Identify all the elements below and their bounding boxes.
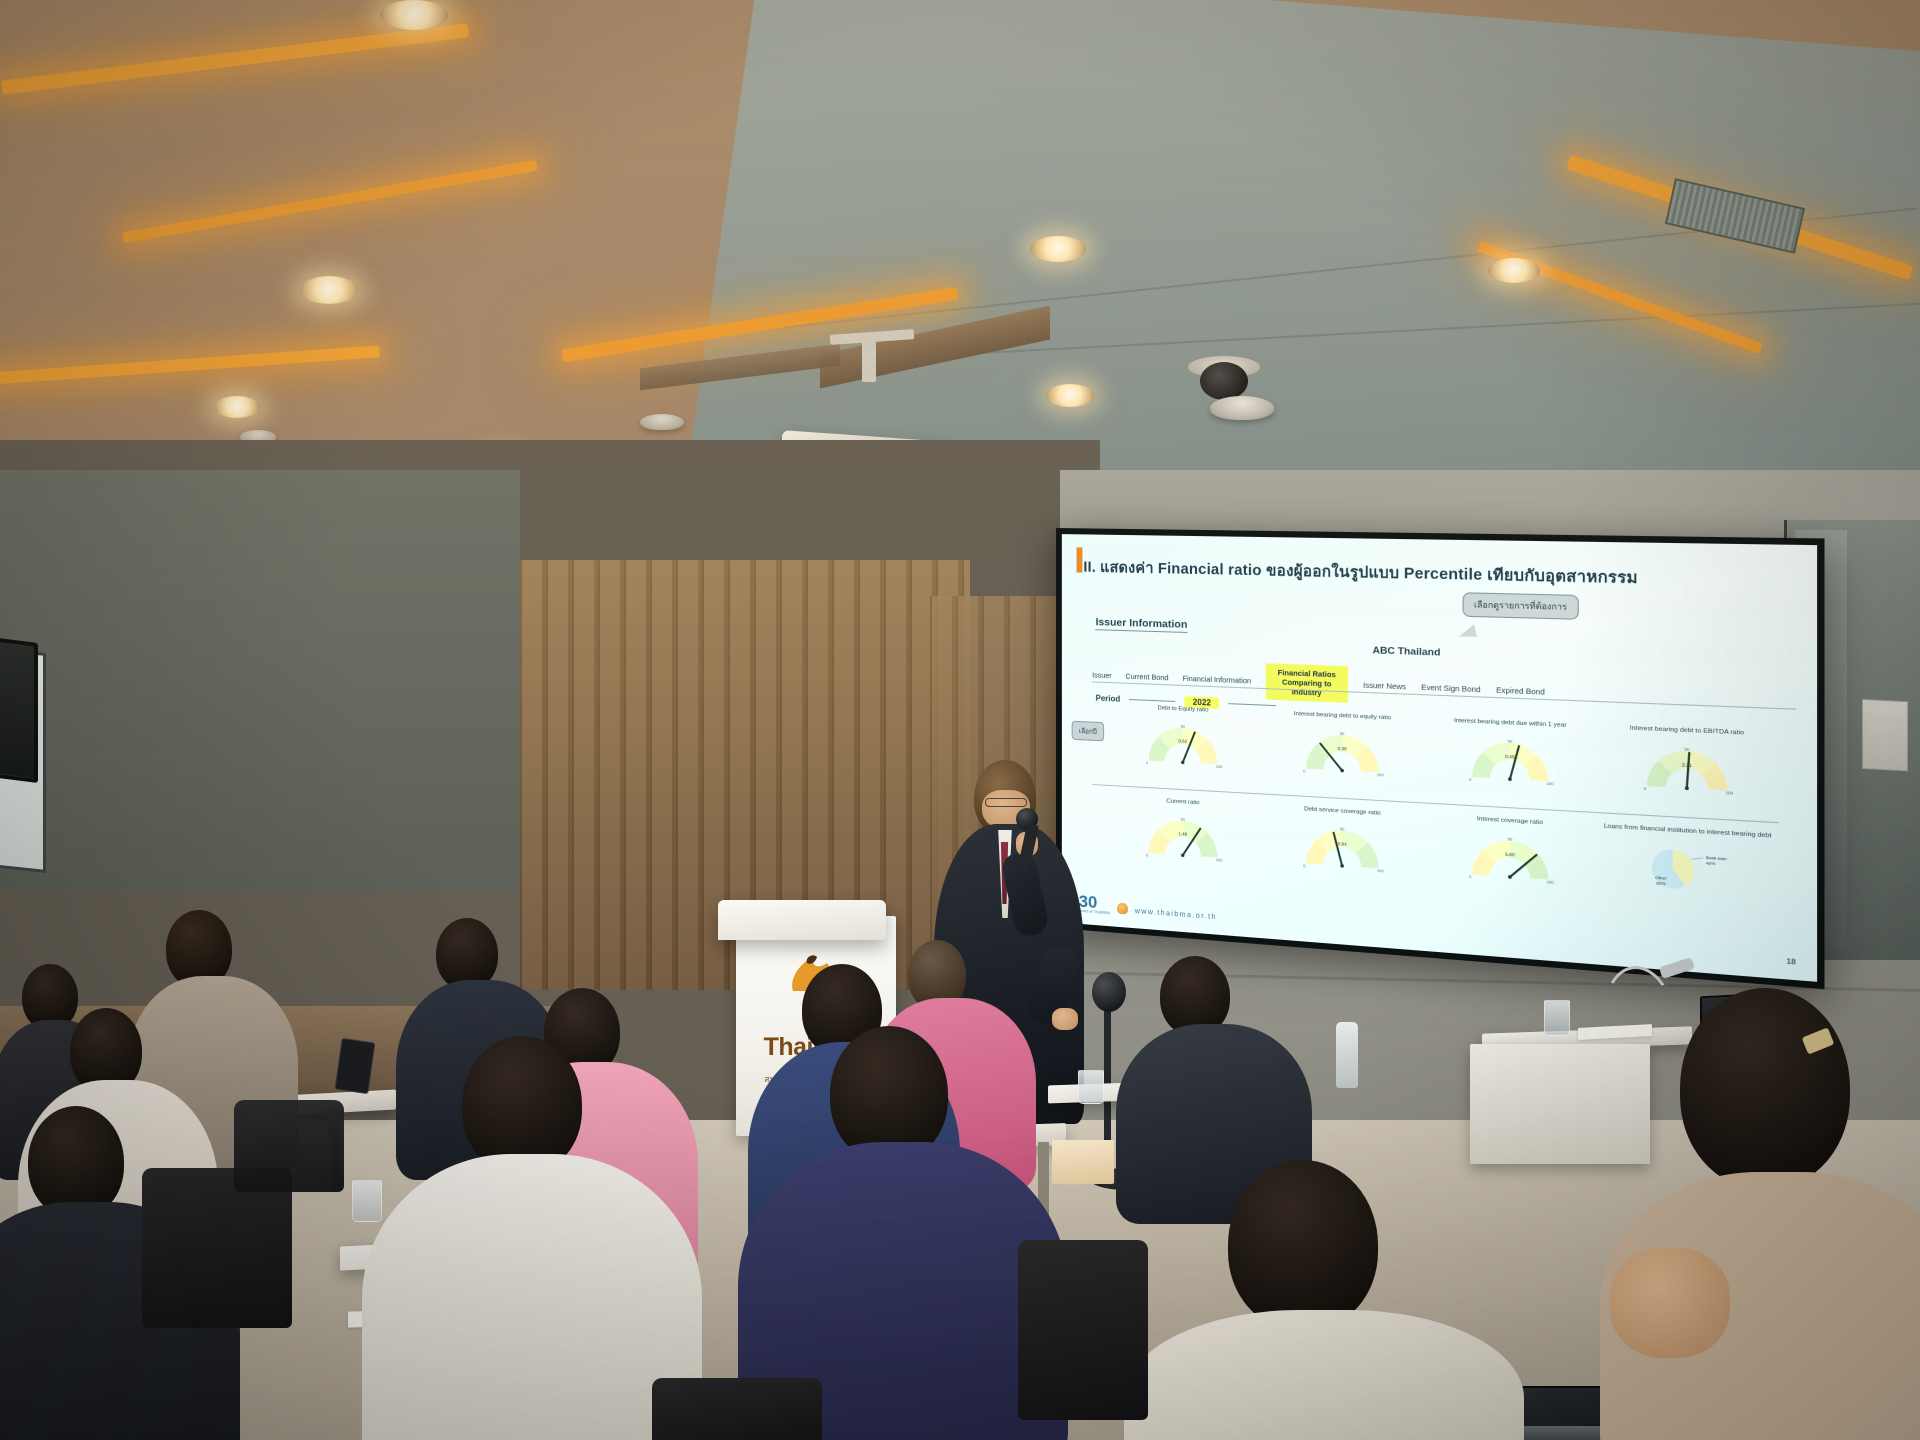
gauge-chart: 0.94050100	[1265, 820, 1422, 876]
company-name: ABC Thailand	[1373, 645, 1441, 659]
ceiling-downlight	[214, 396, 260, 418]
pie-card: Loans from financial institution to inte…	[1600, 823, 1774, 900]
wall-display	[0, 637, 38, 783]
water-bottle	[1336, 1022, 1358, 1088]
gauge-row-2: Current ratio 1.48050100 Debt service co…	[1109, 795, 1775, 900]
period-label: Period	[1096, 694, 1121, 704]
svg-text:0: 0	[1146, 761, 1148, 765]
gauge-chart: 0.38050100	[1265, 726, 1422, 780]
svg-text:100: 100	[1377, 773, 1384, 778]
gauge-card: Debt to Equity ratio 0.62050100	[1109, 703, 1258, 771]
gauge-card: Interest coverage ratio 5.60050100	[1428, 813, 1593, 888]
svg-text:0.94: 0.94	[1338, 841, 1348, 847]
dome-camera-icon	[1200, 362, 1248, 400]
conference-room-photo: II. แสดงค่า Financial ratio ของผู้ออกในร…	[0, 0, 1920, 1440]
footer-url: www.thaibma.or.th	[1135, 908, 1217, 921]
year-selector-tag: เลือกปี	[1072, 721, 1104, 742]
pie-chart: Other60%Bank loan40%	[1600, 841, 1774, 901]
audience-member	[1620, 988, 1920, 1440]
chair	[1018, 1240, 1148, 1420]
smoke-detector-icon	[1210, 396, 1274, 420]
tab-current-bond[interactable]: Current Bond	[1126, 672, 1169, 683]
gauge-chart: 5.60050100	[1428, 830, 1593, 888]
svg-text:0: 0	[1469, 875, 1471, 879]
audience-member	[768, 1026, 1028, 1426]
svg-text:0: 0	[1303, 769, 1305, 773]
thaibma-logo-icon	[1117, 903, 1128, 915]
eyeglasses-icon	[985, 798, 1027, 807]
podium-top	[718, 900, 886, 940]
gauge-card: Interest bearing debt to equity ratio 0.…	[1265, 710, 1422, 780]
period-rule-right	[1228, 703, 1276, 706]
svg-text:0: 0	[1146, 853, 1148, 857]
svg-text:0: 0	[1469, 777, 1471, 781]
svg-text:0.38: 0.38	[1338, 746, 1348, 752]
svg-text:50: 50	[1507, 739, 1512, 744]
svg-text:100: 100	[1216, 764, 1222, 768]
svg-text:1.48: 1.48	[1179, 831, 1188, 837]
svg-text:100: 100	[1725, 790, 1732, 795]
issuer-information-heading: Issuer Information	[1096, 617, 1188, 634]
audience-member	[396, 1036, 666, 1440]
ceiling-downlight	[380, 0, 448, 30]
chair	[234, 1100, 344, 1192]
svg-text:40%: 40%	[1706, 861, 1716, 866]
gauge-card: Current ratio 1.48050100	[1109, 795, 1258, 866]
period-rule-left	[1129, 699, 1175, 702]
presenter-pointing-hand	[1052, 1008, 1078, 1030]
svg-text:0: 0	[1643, 786, 1645, 791]
svg-text:50: 50	[1340, 732, 1344, 736]
raised-hand	[1610, 1248, 1730, 1358]
callout-tail	[1457, 624, 1477, 640]
gauge-chart: 0.45050100	[1428, 733, 1593, 788]
ceiling-downlight	[1046, 384, 1094, 407]
water-glass	[1544, 1000, 1570, 1036]
svg-text:0.62: 0.62	[1179, 738, 1188, 744]
tab-issuer-news[interactable]: Issuer News	[1363, 681, 1406, 692]
slide-page-number: 18	[1786, 958, 1796, 967]
gauge-row-1: Debt to Equity ratio 0.62050100 Interest…	[1109, 703, 1775, 798]
tab-expired-bond[interactable]: Expired Bond	[1496, 685, 1545, 697]
ceiling-downlight	[1488, 258, 1540, 283]
svg-text:60%: 60%	[1656, 881, 1666, 886]
presentation-slide: II. แสดงค่า Financial ratio ของผู้ออกในร…	[1062, 534, 1817, 982]
boom-microphone-icon	[1092, 972, 1126, 1012]
callout-bubble: เลือกดูรายการที่ต้องการ	[1463, 592, 1579, 620]
svg-text:100: 100	[1377, 869, 1384, 874]
gauge-chart: 1.48050100	[1109, 811, 1258, 865]
svg-text:0: 0	[1303, 864, 1305, 868]
svg-text:Other: Other	[1655, 876, 1667, 881]
tab-event-sign-bond[interactable]: Event Sign Bond	[1421, 683, 1480, 695]
audience-member	[1154, 1160, 1474, 1440]
projection-screen: II. แสดงค่า Financial ratio ของผู้ออกในร…	[1056, 528, 1824, 989]
svg-text:50: 50	[1684, 747, 1689, 752]
svg-text:50: 50	[1181, 818, 1185, 822]
gauge-card: Interest bearing debt to EBITDA ratio 3.…	[1600, 724, 1774, 798]
slide-footer: 30 years of ThaiBMA www.thaibma.or.th	[1079, 894, 1217, 922]
smartphone-icon[interactable]	[335, 1038, 376, 1094]
projector-mount-pole	[862, 336, 876, 382]
gauge-chart: 0.62050100	[1109, 719, 1258, 771]
water-glass	[352, 1180, 382, 1222]
svg-text:3.21: 3.21	[1681, 762, 1692, 768]
audience-member	[1130, 956, 1290, 1186]
ceiling-downlight	[1030, 236, 1086, 262]
gauge-card: Interest bearing debt due within 1 year …	[1428, 717, 1593, 789]
chair	[652, 1378, 822, 1440]
wall-poster	[1862, 699, 1908, 771]
green-wall-panel	[0, 470, 520, 890]
svg-text:100: 100	[1547, 781, 1554, 786]
svg-text:100: 100	[1216, 858, 1222, 863]
svg-text:5.60: 5.60	[1505, 851, 1515, 857]
tab-financial-ratios-comparing-to-industry[interactable]: Financial Ratios Comparing to Industry	[1266, 664, 1348, 704]
gauge-card: Debt service coverage ratio 0.94050100	[1265, 804, 1422, 877]
water-glass	[1078, 1070, 1104, 1104]
svg-text:100: 100	[1547, 880, 1554, 885]
title-accent-bar	[1077, 548, 1083, 573]
slide-title: II. แสดงค่า Financial ratio ของผู้ออกในร…	[1083, 556, 1637, 591]
smoke-detector-icon	[640, 414, 684, 430]
svg-text:50: 50	[1340, 827, 1344, 832]
svg-text:0.45: 0.45	[1505, 753, 1515, 759]
tab-issuer[interactable]: Issuer	[1092, 671, 1111, 681]
ceiling-downlight	[300, 276, 358, 304]
snack-box	[1052, 1140, 1114, 1184]
svg-text:50: 50	[1181, 724, 1185, 728]
svg-text:50: 50	[1507, 837, 1512, 842]
chair	[142, 1168, 292, 1328]
gauge-chart: 3.21050100	[1600, 741, 1774, 798]
